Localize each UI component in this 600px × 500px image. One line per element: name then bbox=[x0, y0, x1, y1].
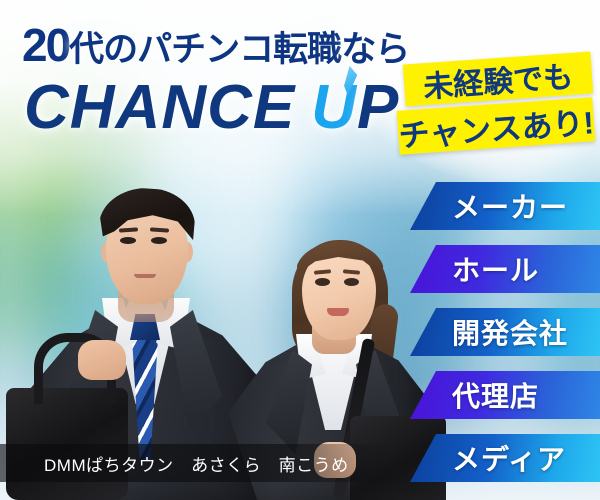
chance-up-logo: CHANCEUP bbox=[24, 72, 399, 143]
chip-development-company-label: 開発会社 bbox=[452, 312, 568, 352]
chip-agency-label: 代理店 bbox=[452, 375, 539, 415]
credit-caption-bar: DMMぱちタウン あさくら 南こうめ bbox=[0, 444, 394, 482]
woman-eye-left bbox=[315, 278, 330, 286]
logo-p-letter: P bbox=[357, 73, 399, 142]
chip-media[interactable]: メディア bbox=[410, 434, 600, 482]
man-mouth bbox=[134, 274, 156, 278]
logo-up-word: UP bbox=[311, 72, 399, 143]
chip-media-label: メディア bbox=[452, 438, 566, 478]
headline-middle: 代のパチンコ転職 bbox=[69, 30, 341, 69]
logo-chance-word: CHANCE bbox=[24, 73, 295, 142]
chip-agency[interactable]: 代理店 bbox=[410, 371, 600, 419]
woman-eye-right bbox=[344, 278, 359, 286]
woman-mouth bbox=[327, 308, 349, 316]
man-hand bbox=[78, 340, 126, 380]
man-eye-right bbox=[151, 237, 167, 244]
chip-hall-label: ホール bbox=[452, 249, 539, 289]
headline-suffix: なら bbox=[341, 30, 409, 69]
headline-text: 20代のパチンコ転職なら bbox=[22, 18, 409, 72]
category-chip-list: メーカー ホール 開発会社 代理店 メディア bbox=[410, 182, 600, 497]
credit-caption-text: DMMぱちタウン あさくら 南こうめ bbox=[44, 451, 349, 476]
banner-ad[interactable]: 20代のパチンコ転職なら CHANCEUP 未経験でも チャンスあり! メーカー… bbox=[0, 0, 600, 500]
man-eye-left bbox=[120, 237, 136, 244]
chip-development-company[interactable]: 開発会社 bbox=[410, 308, 600, 356]
chip-maker[interactable]: メーカー bbox=[410, 182, 600, 230]
headline-number: 20 bbox=[22, 19, 69, 71]
chip-maker-label: メーカー bbox=[452, 186, 568, 226]
chip-hall[interactable]: ホール bbox=[410, 245, 600, 293]
